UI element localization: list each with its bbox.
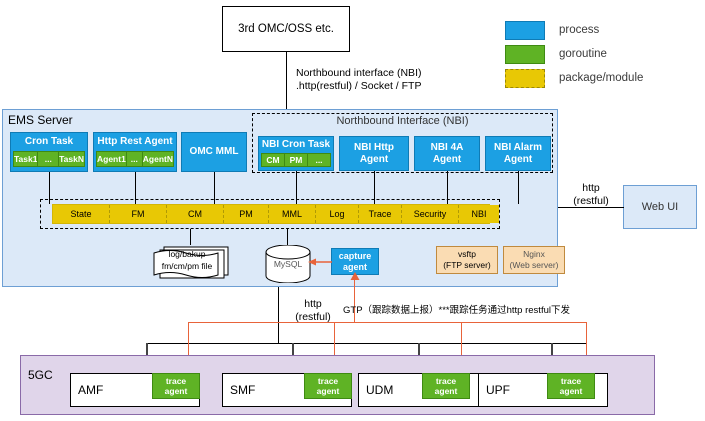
- nginx-line1: Nginx: [523, 249, 545, 260]
- goroutine-nbi-ellipsis[interactable]: ...: [307, 153, 331, 167]
- process-capture-agent[interactable]: capture agent: [331, 248, 379, 275]
- nbi-note-line2: .http(restful) / Socket / FTP: [296, 80, 536, 93]
- process-http-rest-agent[interactable]: Http Rest Agent Agent1 ... AgentN: [93, 132, 177, 172]
- trace-agent-udm[interactable]: trace agent: [422, 373, 470, 399]
- legend: process goroutine package/module: [505, 18, 700, 96]
- trace-agent-amf-line1: trace: [166, 376, 186, 386]
- nf-label-udm: UDM: [366, 383, 393, 397]
- connector-ems-to-5gc-trunk: [278, 287, 279, 344]
- trace-agent-smf[interactable]: trace agent: [304, 373, 352, 399]
- file-store-label: log/bakup fm/cm/pm file: [152, 248, 222, 272]
- goroutine-task-ellipsis[interactable]: ...: [37, 151, 58, 167]
- process-nbi-4a-agent[interactable]: NBI 4A Agent: [414, 136, 480, 171]
- south-link-line1: http: [285, 298, 341, 311]
- goroutine-agentn[interactable]: AgentN: [142, 151, 174, 167]
- nf-label-upf: UPF: [486, 383, 510, 397]
- diagram-canvas: 3rd OMC/OSS etc. Northbound interface (N…: [0, 0, 705, 421]
- southbound-bus: [146, 343, 586, 344]
- legend-label-process: process: [559, 24, 599, 36]
- legend-label-module: package/module: [559, 72, 643, 84]
- third-party-omc-oss-label: 3rd OMC/OSS etc.: [238, 23, 334, 35]
- legend-label-goroutine: goroutine: [559, 48, 607, 60]
- gtp-bus: [188, 322, 586, 323]
- trace-agent-upf-line2: agent: [560, 386, 583, 396]
- process-nbi-http-agent[interactable]: NBI Http Agent: [339, 136, 409, 171]
- nbi-group-title: Northbound Interface (NBI): [252, 115, 553, 127]
- goroutine-agent-ellipsis[interactable]: ...: [126, 151, 142, 167]
- goroutine-task1[interactable]: Task1: [13, 151, 37, 167]
- legend-swatch-module: [505, 69, 545, 88]
- goroutine-nbi-cm[interactable]: CM: [261, 153, 284, 167]
- web-ui-link-note: http (restful): [560, 182, 622, 208]
- trace-agent-amf-line2: agent: [165, 386, 188, 396]
- trace-agent-udm-line2: agent: [435, 386, 458, 396]
- web-ui-label: Web UI: [642, 201, 678, 213]
- goroutine-nbi-pm[interactable]: PM: [284, 153, 307, 167]
- module-pm[interactable]: PM: [224, 205, 269, 223]
- capture-agent-line1: capture: [339, 251, 372, 262]
- file-store-line1: log/bakup: [152, 248, 222, 260]
- gtp-note: GTP（跟踪数据上报）***跟踪任务通过http restful下发: [343, 304, 673, 317]
- legend-swatch-process: [505, 21, 545, 40]
- module-fm[interactable]: FM: [110, 205, 167, 223]
- capture-agent-line2: agent: [343, 262, 367, 273]
- module-state[interactable]: State: [53, 205, 110, 223]
- legend-item-module: package/module: [505, 66, 700, 90]
- nginx-server-box: Nginx (Web server): [503, 246, 565, 274]
- third-party-omc-oss-box: 3rd OMC/OSS etc.: [222, 6, 350, 52]
- vsftp-line1: vsftp: [458, 249, 476, 260]
- nf-label-amf: AMF: [78, 383, 103, 397]
- web-ui-link-line2: (restful): [560, 195, 622, 208]
- legend-item-process: process: [505, 18, 700, 42]
- vsftp-line2: (FTP server): [443, 260, 491, 271]
- fivegc-title: 5GC: [28, 368, 53, 382]
- legend-swatch-goroutine: [505, 45, 545, 64]
- module-security[interactable]: Security: [402, 205, 459, 223]
- south-link-note: http (restful): [285, 298, 341, 324]
- database-label: MySQL: [265, 259, 311, 269]
- file-store-line2: fm/cm/pm file: [152, 260, 222, 272]
- process-http-rest-agent-label: Http Rest Agent: [97, 136, 172, 148]
- module-log[interactable]: Log: [316, 205, 359, 223]
- module-cm[interactable]: CM: [167, 205, 224, 223]
- connector-modules-to-database: [287, 229, 288, 245]
- trace-agent-upf-line1: trace: [561, 376, 581, 386]
- connector-nbi-alarm-agent-to-modules: [518, 171, 519, 204]
- vsftp-server-box: vsftp (FTP server): [436, 246, 498, 274]
- web-ui-link-line1: http: [560, 182, 622, 195]
- nginx-line2: (Web server): [510, 260, 559, 271]
- legend-item-goroutine: goroutine: [505, 42, 700, 66]
- trace-agent-upf[interactable]: trace agent: [547, 373, 595, 399]
- process-cron-task[interactable]: Cron Task Task1 ... TaskN: [10, 132, 88, 172]
- nf-label-smf: SMF: [230, 383, 255, 397]
- module-nbi[interactable]: NBI: [459, 205, 499, 223]
- process-nbi-alarm-agent[interactable]: NBI Alarm Agent: [485, 136, 551, 171]
- process-nbi-alarm-agent-label: NBI Alarm Agent: [486, 142, 550, 166]
- process-nbi-cron-task[interactable]: NBI Cron Task CM PM ...: [258, 136, 334, 171]
- trace-agent-smf-line1: trace: [318, 376, 338, 386]
- module-trace[interactable]: Trace: [359, 205, 402, 223]
- module-bar: State FM CM PM MML Log Trace Security NB…: [52, 204, 490, 224]
- module-mml[interactable]: MML: [269, 205, 316, 223]
- ems-server-title: EMS Server: [8, 113, 73, 127]
- connector-omc-to-ems: [286, 52, 287, 109]
- goroutine-agent1[interactable]: Agent1: [96, 151, 126, 167]
- process-nbi-4a-agent-label: NBI 4A Agent: [415, 142, 479, 166]
- trace-agent-smf-line2: agent: [317, 386, 340, 396]
- web-ui-box[interactable]: Web UI: [623, 185, 697, 229]
- nbi-note-line1: Northbound interface (NBI): [296, 67, 536, 80]
- gtp-riser-arrowhead: [349, 272, 361, 284]
- process-cron-task-label: Cron Task: [25, 136, 73, 148]
- process-nbi-cron-task-label: NBI Cron Task: [262, 139, 330, 151]
- process-omc-mml-label: OMC MML: [190, 146, 239, 158]
- process-omc-mml[interactable]: OMC MML: [181, 132, 247, 172]
- trace-agent-amf[interactable]: trace agent: [152, 373, 200, 399]
- process-nbi-http-agent-label: NBI Http Agent: [340, 142, 408, 166]
- trace-agent-udm-line1: trace: [436, 376, 456, 386]
- goroutine-taskn[interactable]: TaskN: [58, 151, 85, 167]
- northbound-interface-note: Northbound interface (NBI) .http(restful…: [296, 67, 536, 93]
- capture-agent-to-database-arrow: [308, 256, 333, 268]
